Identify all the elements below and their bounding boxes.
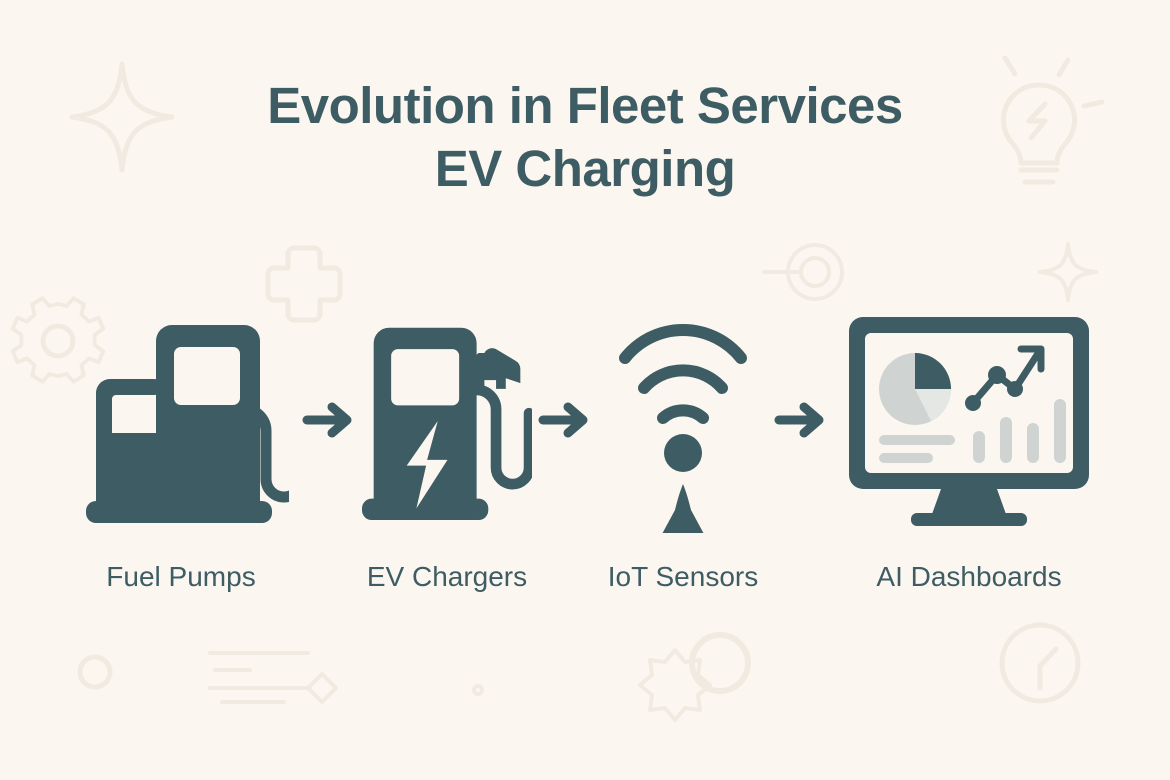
flow-step-iot-sensors[interactable] — [598, 300, 768, 540]
label-slot-iot-sensors: IoT Sensors — [598, 559, 768, 595]
arrow-right-icon — [537, 398, 593, 442]
iot-sensor-tower-icon — [613, 308, 753, 533]
step-label-iot-sensors: IoT Sensors — [608, 561, 758, 592]
arrow-right-icon — [301, 398, 357, 442]
flow-arrow-3 — [768, 390, 834, 450]
flow-step-ev-chargers[interactable] — [362, 300, 532, 540]
ai-dashboard-monitor-icon — [845, 313, 1093, 528]
arrow-right-icon — [773, 398, 829, 442]
ev-charger-icon — [362, 315, 532, 525]
circle-small-icon — [80, 657, 110, 687]
target-circle-icon — [764, 245, 842, 299]
flow-arrow-1 — [296, 390, 362, 450]
dot-icon — [474, 686, 482, 694]
text-lines-diamond-icon — [210, 653, 336, 702]
monitor-stand — [931, 489, 1007, 517]
flow-step-ai-dashboards[interactable] — [834, 300, 1104, 540]
infographic-canvas: Evolution in Fleet Services EV Charging — [0, 0, 1170, 780]
title-line-1: Evolution in Fleet Services — [0, 74, 1170, 137]
flow-arrow-2 — [532, 390, 598, 450]
flow-step-fuel-pumps[interactable] — [66, 300, 296, 540]
screen-pie-chart — [879, 353, 951, 425]
fuel-pump-icon — [74, 315, 289, 525]
page-title: Evolution in Fleet Services EV Charging — [0, 74, 1170, 200]
step-label-ai-dashboards: AI Dashboards — [876, 561, 1061, 592]
step-label-ev-chargers: EV Chargers — [367, 561, 527, 592]
label-slot-ev-chargers: EV Chargers — [362, 559, 532, 595]
star-flower-icon — [640, 650, 710, 720]
title-line-2: EV Charging — [0, 137, 1170, 200]
evolution-labels-row: Fuel Pumps EV Chargers IoT Sensors AI Da… — [0, 552, 1170, 602]
label-slot-fuel-pumps: Fuel Pumps — [66, 559, 296, 595]
clock-gauge-icon — [1002, 625, 1078, 701]
evolution-flow-row — [0, 300, 1170, 540]
ring-icon — [692, 635, 748, 691]
monitor-base — [911, 513, 1027, 526]
sparkle-small-icon — [1040, 244, 1096, 300]
step-label-fuel-pumps: Fuel Pumps — [106, 561, 255, 592]
label-slot-ai-dashboards: AI Dashboards — [834, 559, 1104, 595]
